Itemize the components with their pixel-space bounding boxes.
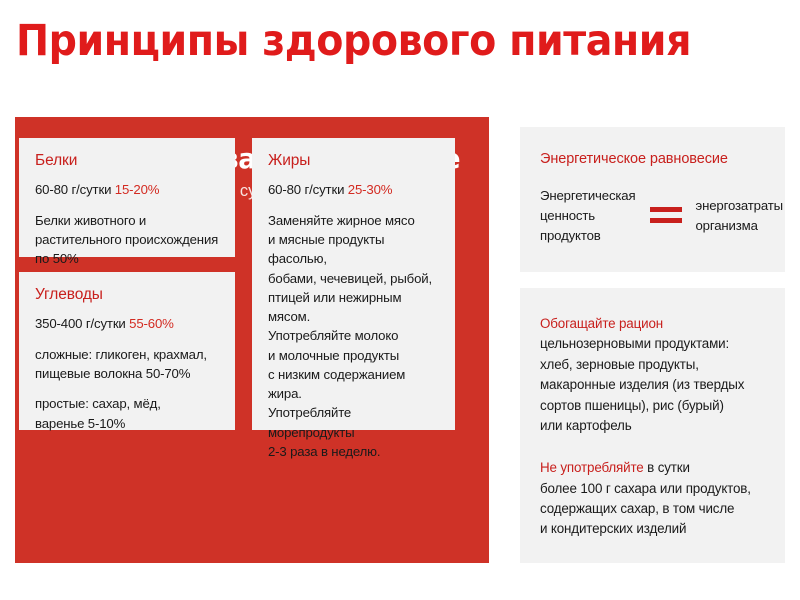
card-carbohydrates: Углеводы 350-400 г/сутки 55-60% сложные:… — [19, 272, 235, 430]
equals-bar-bottom — [650, 218, 682, 223]
energy-value-term: Энергетическая ценность продуктов — [540, 186, 636, 245]
energy-balance-heading: Энергетическое равновесие — [540, 151, 765, 167]
card-carbohydrates-percent: 55-60% — [129, 316, 174, 331]
card-proteins-body: Белки животного и растительного происхож… — [35, 211, 219, 269]
card-fats-percent: 25-30% — [348, 182, 393, 197]
energy-balance-equation: Энергетическая ценность продуктов энерго… — [540, 186, 765, 245]
card-carbohydrates-complex: сложные: гликоген, крахмал, пищевые воло… — [35, 345, 219, 384]
nutrient-cards: Белки 60-80 г/сутки 15-20% Белки животно… — [19, 138, 455, 430]
card-fats: Жиры 60-80 г/сутки 25-30% Заменяйте жирн… — [252, 138, 455, 430]
energy-expenditure-term: энергозатраты организма — [696, 196, 783, 236]
cards-column-right: Жиры 60-80 г/сутки 25-30% Заменяйте жирн… — [252, 138, 455, 430]
advice-enrich-body: цельнозерновыми продуктами: хлеб, зернов… — [540, 336, 744, 433]
page-title: Принципы здорового питания — [16, 18, 691, 65]
card-carbohydrates-amount: 350-400 г/сутки 55-60% — [35, 315, 219, 334]
advice-avoid: Не употребляйте в сутки более 100 г саха… — [540, 458, 765, 540]
card-proteins-percent: 15-20% — [115, 182, 160, 197]
card-fats-body: Заменяйте жирное мясо и мясные продукты … — [268, 211, 439, 461]
dietary-advice-panel: Обогащайте рацион цельнозерновыми продук… — [520, 288, 785, 563]
equals-icon — [650, 207, 682, 225]
equals-bar-top — [650, 207, 682, 212]
card-proteins-amount-value: 60-80 г/сутки — [35, 182, 115, 197]
card-fats-amount: 60-80 г/сутки 25-30% — [268, 181, 439, 200]
advice-enrich-lead: Обогащайте рацион — [540, 316, 663, 331]
card-proteins: Белки 60-80 г/сутки 15-20% Белки животно… — [19, 138, 235, 257]
card-proteins-heading: Белки — [35, 152, 219, 170]
advice-enrich: Обогащайте рацион цельнозерновыми продук… — [540, 314, 765, 436]
card-carbohydrates-amount-value: 350-400 г/сутки — [35, 316, 129, 331]
advice-avoid-lead: Не употребляйте — [540, 460, 644, 475]
energy-balance-panel: Энергетическое равновесие Энергетическая… — [520, 127, 785, 272]
card-fats-amount-value: 60-80 г/сутки — [268, 182, 348, 197]
card-fats-heading: Жиры — [268, 152, 439, 170]
card-proteins-amount: 60-80 г/сутки 15-20% — [35, 181, 219, 200]
cards-column-left: Белки 60-80 г/сутки 15-20% Белки животно… — [19, 138, 235, 430]
card-carbohydrates-simple: простые: сахар, мёд, варенье 5-10% — [35, 394, 219, 433]
card-carbohydrates-heading: Углеводы — [35, 286, 219, 304]
